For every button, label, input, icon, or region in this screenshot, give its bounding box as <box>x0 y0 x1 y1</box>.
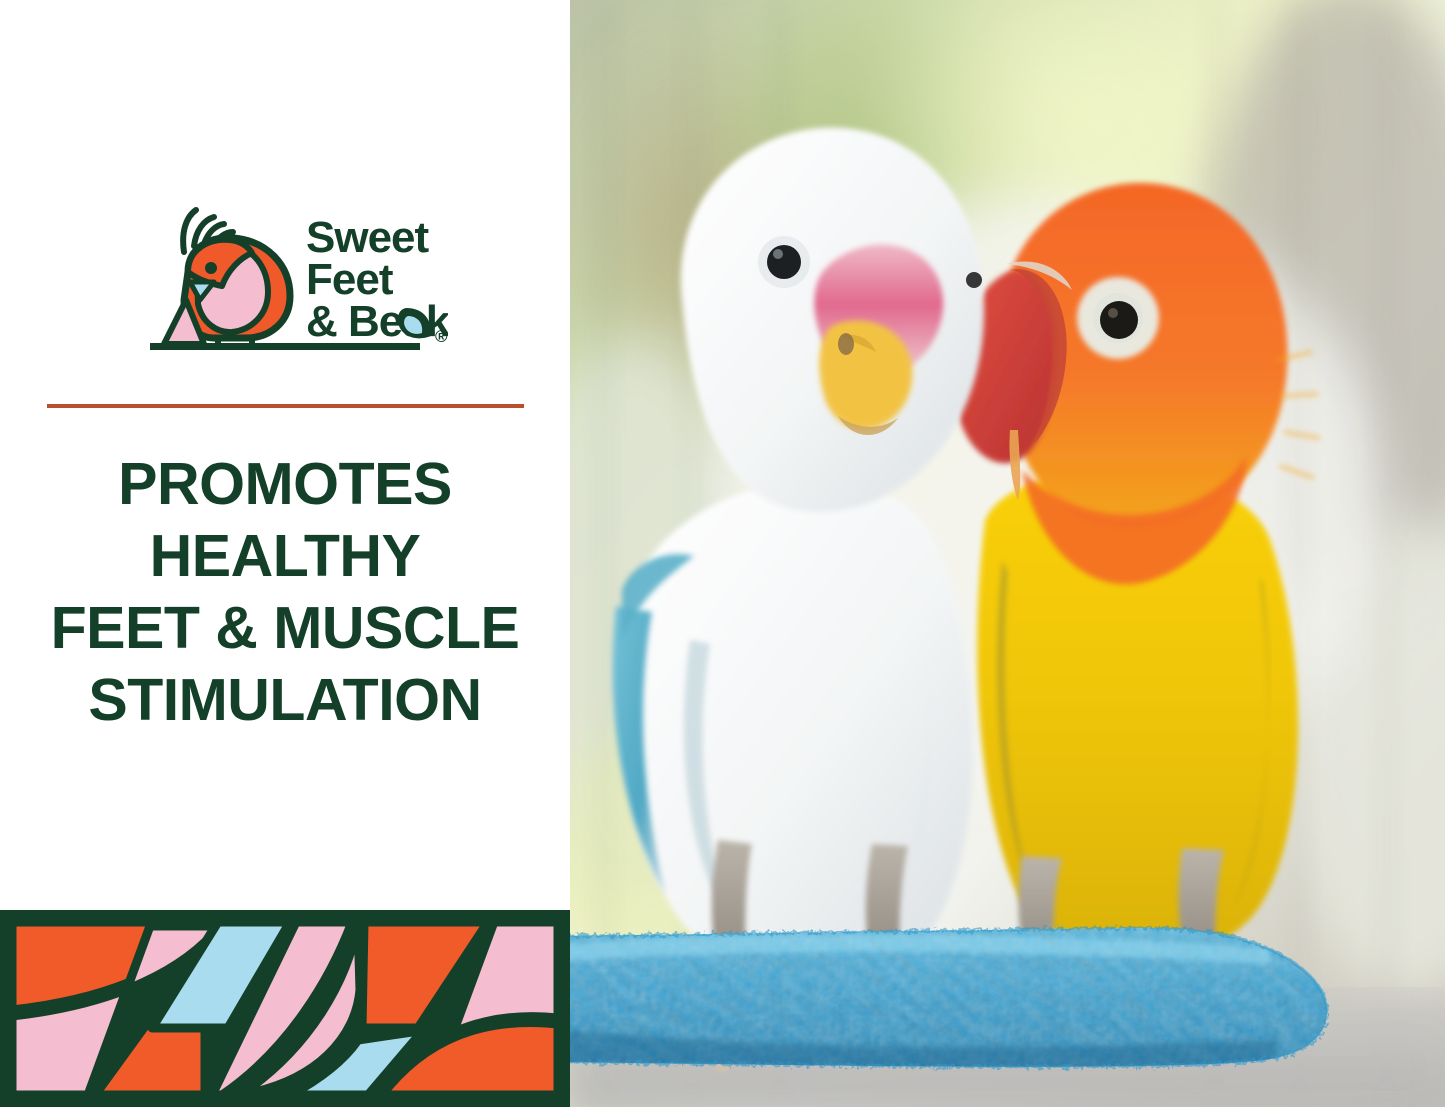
headline-line-4: STIMULATION <box>20 664 550 736</box>
left-info-panel: Sweet Feet & Beak ® PROMOTES HEALTHY FEE… <box>0 0 570 1107</box>
product-feature-graphic: Sweet Feet & Beak ® PROMOTES HEALTHY FEE… <box>0 0 1445 1107</box>
stained-glass-pattern-band <box>0 910 570 1107</box>
parrot-eye-icon <box>205 262 217 274</box>
pattern-svg <box>0 910 570 1107</box>
photo-illustration <box>570 0 1445 1107</box>
logo-svg: Sweet Feet & Beak ® <box>148 196 448 361</box>
headline-line-3: FEET & MUSCLE <box>20 592 550 664</box>
page-title: PROMOTES HEALTHY FEET & MUSCLE STIMULATI… <box>20 448 550 736</box>
headline-line-1: PROMOTES <box>20 448 550 520</box>
brand-logo: Sweet Feet & Beak ® <box>148 196 448 361</box>
registered-mark: ® <box>435 327 448 346</box>
headline-line-2: HEALTHY <box>20 520 550 592</box>
horizontal-divider <box>47 404 524 408</box>
product-photo <box>570 0 1445 1107</box>
